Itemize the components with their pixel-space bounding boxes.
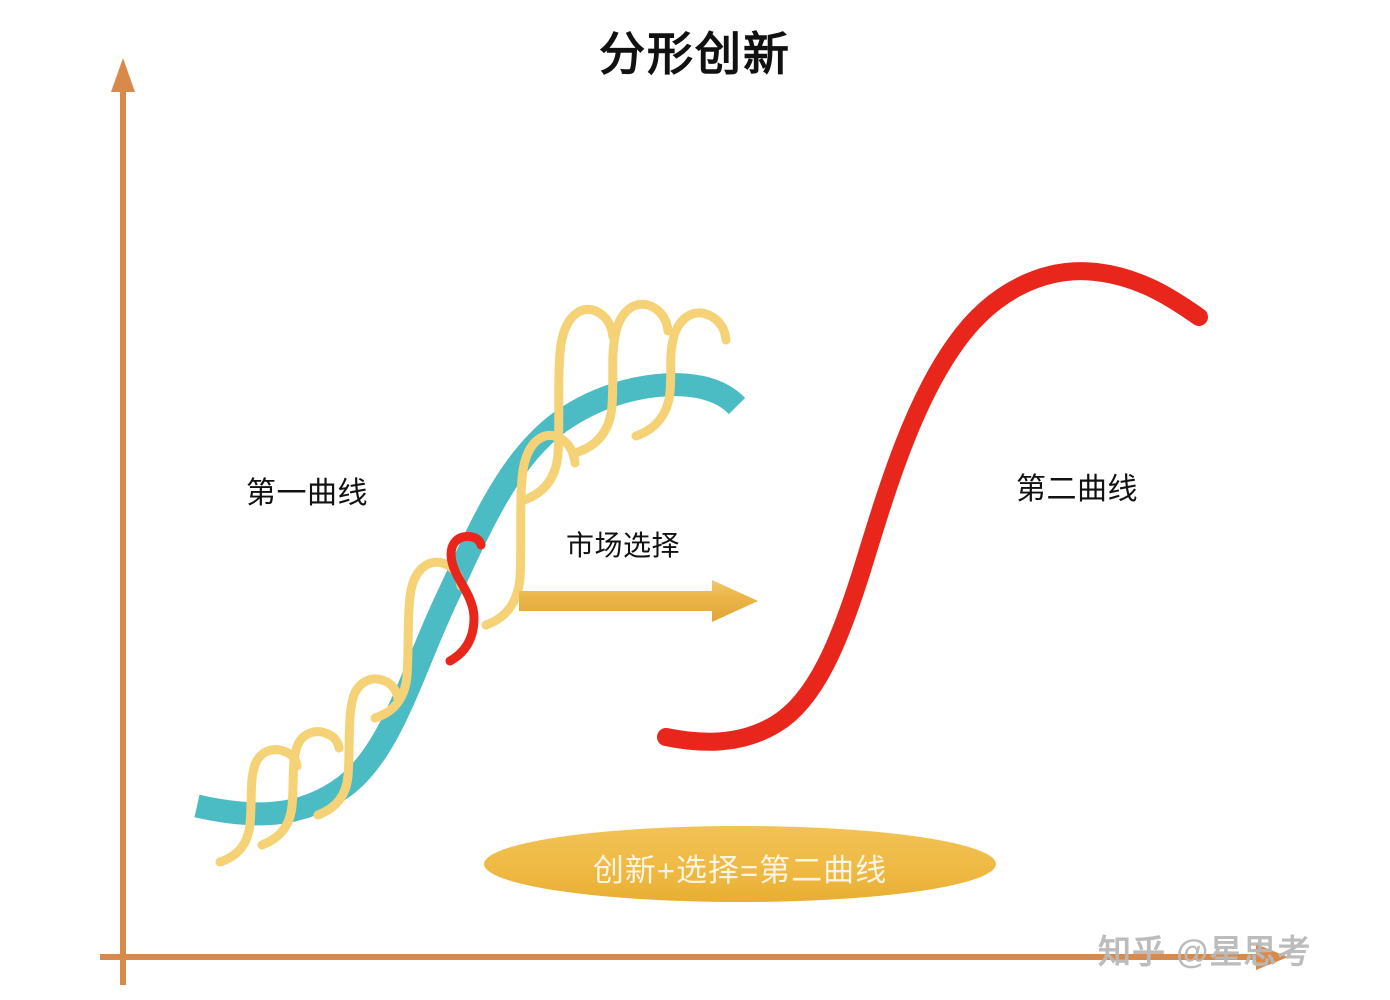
market-selection-arrow	[519, 580, 758, 622]
market-selection-arrow-shape	[519, 580, 758, 622]
diagram-canvas: 分形创新 第一曲线 第二曲线 市场选择 创新+选择=第二曲线 知乎 @星思考	[0, 0, 1390, 1000]
watermark-label: 知乎 @星思考	[1098, 925, 1311, 973]
label-second-curve: 第二曲线	[1016, 464, 1138, 508]
formula-badge-label: 创新+选择=第二曲线	[480, 845, 1000, 890]
label-market-selection: 市场选择	[566, 524, 680, 564]
label-first-curve: 第一曲线	[246, 468, 368, 512]
page-title: 分形创新	[0, 18, 1390, 84]
